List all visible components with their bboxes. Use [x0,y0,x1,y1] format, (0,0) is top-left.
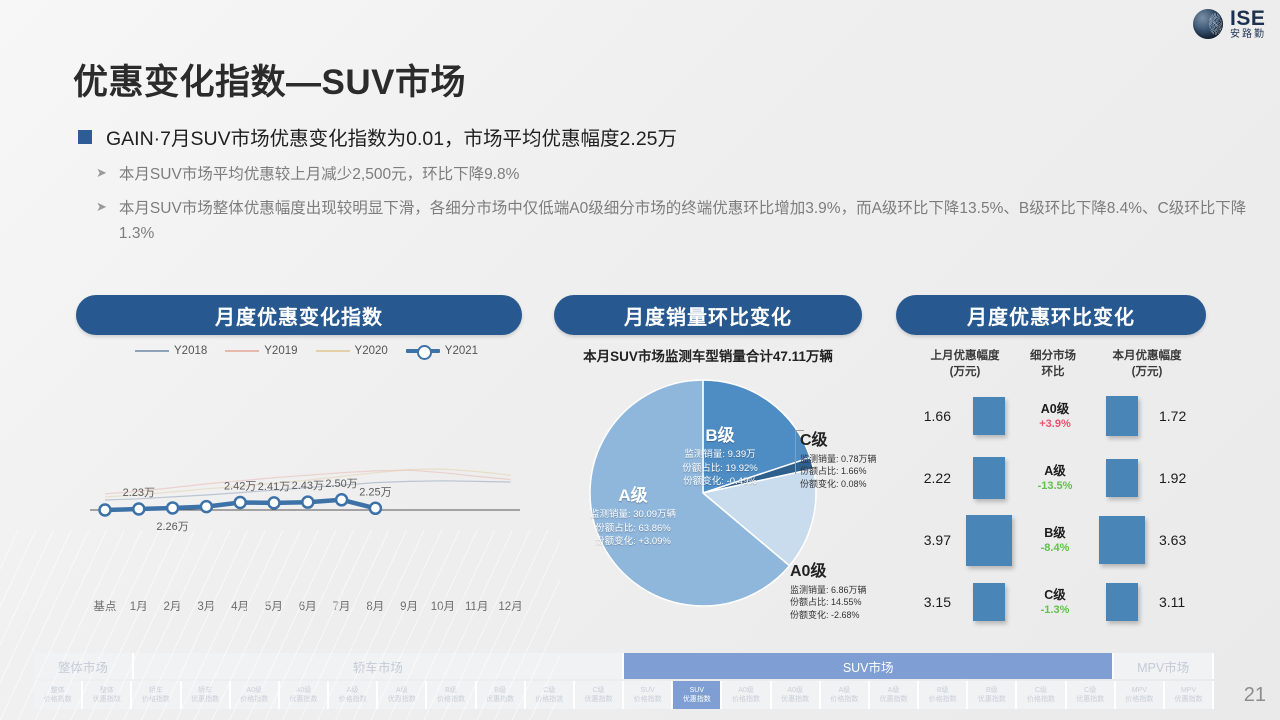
nav-item-line1: C级 [543,686,555,695]
x-tick-label: 4月 [223,598,257,614]
bar-segment-cell: A级-13.5% [1017,464,1093,493]
panel-title-line-chart: 月度优惠变化指数 [76,295,522,335]
nav-group-轿车市场[interactable]: 轿车市场 [134,653,624,679]
bar-prev-value: 2.22 [900,470,960,486]
nav-item-line2: 价格指数 [1027,695,1055,704]
nav-item-line1: A0级 [738,686,754,695]
bar-change-pct: -8.4% [1017,541,1093,555]
nav-item-line2: 优惠指数 [880,695,908,704]
nav-item-line1: A级 [396,686,408,695]
bar-curr [1106,459,1138,497]
legend-line-icon [225,350,259,352]
bar-segment-cell: A0级+3.9% [1017,402,1093,431]
line-data-point [133,503,144,514]
nav-item-A级-优惠指数[interactable]: A级优惠指数 [378,681,427,709]
pie-label-b: B级 监测销量: 9.39万 份额占比: 19.92% 份额变化: -0.49% [660,424,780,489]
line-data-label: 2.42万 [224,481,256,493]
nav-item-B级-价格指数[interactable]: B级价格指数 [919,681,968,709]
nav-item-A0级-优惠指数[interactable]: A0级优惠指数 [280,681,329,709]
legend-label: Y2021 [445,345,478,357]
nav-item-MPV-价格指数[interactable]: MPV价格指数 [1116,681,1165,709]
pie-label-a-share: 份额占比: 63.86% [578,522,688,535]
nav-item-line2: 价格指数 [142,695,170,704]
nav-item-line2: 优惠指数 [781,695,809,704]
x-tick-label: 9月 [392,598,426,614]
bar-col-header-segment: 细分市场 环比 [1004,348,1102,380]
nav-item-line2: 优惠指数 [1175,695,1203,704]
nav-item-C级-优惠指数[interactable]: C级优惠指数 [575,681,624,709]
pie-label-a-sales: 监测销量: 30.09万辆 [578,508,688,521]
nav-item-整体-价格指数[interactable]: 整体价格指数 [34,681,83,709]
nav-item-line2: 价格指数 [437,695,465,704]
nav-item-line1: A级 [839,686,851,695]
bar-curr-wrap [1093,583,1150,621]
pie-label-a0-share: 份额占比: 14.55% [790,596,915,609]
nav-item-line1: C级 [1035,686,1047,695]
bar-prev-wrap [960,583,1017,621]
bar-curr-value: 3.63 [1150,532,1210,548]
line-data-point [336,494,347,505]
bar-prev-value: 3.15 [900,594,960,610]
pie-label-b-name: B级 [660,424,780,448]
pie-label-a0-sales: 监测销量: 6.86万辆 [790,584,915,597]
nav-item-A0级-价格指数[interactable]: A0级价格指数 [231,681,280,709]
nav-item-line1: SUV [690,686,704,695]
x-tick-label: 2月 [156,598,190,614]
nav-item-line2: 优惠指数 [191,695,219,704]
nav-item-line1: A0级 [246,686,262,695]
page-number: 21 [1244,684,1266,707]
nav-item-line1: C级 [1084,686,1096,695]
main-bullet-text: GAIN·7月SUV市场优惠变化指数为0.01，市场平均优惠幅度2.25万 [106,122,677,151]
legend-item-Y2021: Y2021 [406,345,478,357]
pie-label-a-change: 份额变化: +3.09% [578,535,688,548]
bar-col-header-curr-l1: 本月优惠幅度 [1092,348,1202,364]
nav-item-line2: 价格指数 [240,695,268,704]
legend-label: Y2020 [355,345,388,357]
sub-bullet-1: ➤ 本月SUV市场平均优惠较上月减少2,500元，环比下降9.8% [96,162,519,187]
line-chart-svg: 2.23万2.26万2.42万2.41万2.43万2.50万2.25万 [80,400,530,620]
nav-item-line1: SUV [640,686,654,695]
bar-change-pct: -1.3% [1017,603,1093,617]
nav-item-line2: 价格指数 [929,695,957,704]
logo-name: ISE [1230,8,1266,29]
x-tick-label: 11月 [460,598,494,614]
bar-prev-value: 3.97 [900,532,960,548]
nav-item-line2: 价格指数 [44,695,72,704]
x-tick-label: 3月 [189,598,223,614]
bar-compare-row: 3.97B级-8.4%3.63 [900,508,1210,572]
page-title: 优惠变化指数—SUV市场 [73,54,466,105]
nav-item-line1: B级 [445,686,457,695]
line-data-point [235,497,246,508]
sub-bullet-1-text: 本月SUV市场平均优惠较上月减少2,500元，环比下降9.8% [119,162,520,187]
legend-item-Y2019: Y2019 [225,345,297,357]
nav-item-line1: A0级 [296,686,312,695]
line-data-label: 2.26万 [156,521,188,533]
bar-curr-value: 1.92 [1150,470,1210,486]
bar-prev [973,457,1005,499]
line-data-point [302,497,313,508]
nav-item-line1: MPV [1181,686,1196,695]
bar-segment-cell: B级-8.4% [1017,526,1093,555]
nav-item-line1: B级 [937,686,949,695]
bar-curr [1099,516,1145,564]
nav-item-line1: A级 [888,686,900,695]
bar-prev-wrap [960,397,1017,435]
nav-item-B级-价格指数[interactable]: B级价格指数 [427,681,476,709]
bar-prev [973,583,1005,621]
nav-item-line2: 价格指数 [535,695,563,704]
line-chart-x-axis: 基点1月2月3月4月5月6月7月8月9月10月11月12月 [88,598,528,614]
nav-item-line2: 优惠指数 [289,695,317,704]
line-data-label: 2.25万 [359,486,391,498]
pie-label-b-change: 份额变化: -0.49% [660,475,780,488]
x-tick-label: 1月 [122,598,156,614]
bar-prev-wrap [960,515,1017,566]
nav-item-SUV-价格指数[interactable]: SUV价格指数 [624,681,673,709]
nav-item-MPV-优惠指数[interactable]: MPV优惠指数 [1165,681,1214,709]
line-chart: 2.23万2.26万2.42万2.41万2.43万2.50万2.25万 [80,400,530,620]
bar-segment-label: A级 [1017,464,1093,479]
bar-compare-row: 3.15C级-1.3%3.11 [900,570,1210,634]
nav-item-line2: 优惠指数 [683,695,711,704]
pie-label-a0-name: A0级 [790,561,915,584]
bar-curr-wrap [1093,459,1150,497]
legend-marker-icon [406,349,440,353]
chevron-right-icon: ➤ [96,196,107,218]
bar-curr-value: 3.11 [1150,594,1210,610]
legend-line-icon [135,350,169,352]
legend-label: Y2019 [264,345,297,357]
nav-item-A级-价格指数[interactable]: A级价格指数 [821,681,870,709]
nav-item-line1: 轿车 [149,686,163,695]
nav-item-A0级-价格指数[interactable]: A0级价格指数 [722,681,771,709]
nav-group-整体市场[interactable]: 整体市场 [34,653,134,679]
x-tick-label: 12月 [494,598,528,614]
slide: ISE 安路勤 优惠变化指数—SUV市场 GAIN·7月SUV市场优惠变化指数为… [0,0,1280,720]
nav-item-A级-价格指数[interactable]: A级价格指数 [329,681,378,709]
nav-item-轿车-优惠指数[interactable]: 轿车优惠指数 [182,681,231,709]
bar-change-pct: -13.5% [1017,479,1093,493]
x-tick-label: 7月 [325,598,359,614]
pie-label-a0: A0级 监测销量: 6.86万辆 份额占比: 14.55% 份额变化: -2.6… [790,561,915,622]
bar-curr-wrap [1093,516,1150,564]
bar-change-pct: +3.9% [1017,417,1093,431]
nav-item-line2: 价格指数 [830,695,858,704]
pie-label-b-sales: 监测销量: 9.39万 [660,448,780,461]
bar-curr-value: 1.72 [1150,408,1210,424]
ise-logo: ISE 安路勤 [1193,8,1266,40]
pie-label-b-share: 份额占比: 19.92% [660,462,780,475]
nav-item-line2: 优惠指数 [388,695,416,704]
nav-item-整体-优惠指数[interactable]: 整体优惠指数 [83,681,132,709]
sub-bullet-2-text: 本月SUV市场整体优惠幅度出现较明显下滑，各细分市场中仅低端A0级细分市场的终端… [119,196,1264,246]
nav-item-line1: B级 [494,686,506,695]
legend-item-Y2018: Y2018 [135,345,207,357]
pie-subtitle: 本月SUV市场监测车型销量合计47.11万辆 [554,345,862,365]
bar-compare-row: 1.66A0级+3.9%1.72 [900,384,1210,448]
nav-item-B级-优惠指数[interactable]: B级优惠指数 [968,681,1017,709]
bar-curr [1106,396,1138,436]
nav-group-SUV市场[interactable]: SUV市场 [624,653,1114,679]
legend-item-Y2020: Y2020 [316,345,388,357]
nav-item-line1: A0级 [787,686,803,695]
legend-label: Y2018 [174,345,207,357]
nav-item-C级-价格指数[interactable]: C级价格指数 [1017,681,1066,709]
nav-item-line1: 轿车 [198,686,212,695]
line-data-point [269,497,280,508]
nav-item-SUV-优惠指数[interactable]: SUV优惠指数 [673,681,722,709]
bar-col-header-curr: 本月优惠幅度 (万元) [1092,348,1202,380]
line-data-label: 2.23万 [123,487,155,499]
main-bullet: GAIN·7月SUV市场优惠变化指数为0.01，市场平均优惠幅度2.25万 [78,122,677,151]
nav-item-line1: 整体 [100,686,114,695]
nav-item-C级-优惠指数[interactable]: C级优惠指数 [1067,681,1116,709]
nav-item-line2: 优惠指数 [1076,695,1104,704]
nav-item-轿车-价格指数[interactable]: 轿车价格指数 [132,681,181,709]
nav-item-line1: A级 [347,686,359,695]
x-tick-label: 基点 [88,598,122,614]
nav-item-line1: B级 [986,686,998,695]
nav-group-row: 整体市场轿车市场SUV市场MPV市场 [34,653,1214,679]
nav-item-A0级-优惠指数[interactable]: A0级优惠指数 [772,681,821,709]
line-data-point [370,503,381,514]
pie-label-a: A级 监测销量: 30.09万辆 份额占比: 63.86% 份额变化: +3.0… [578,484,688,549]
bar-segment-label: A0级 [1017,402,1093,417]
x-tick-label: 10月 [426,598,460,614]
pie-leader-line-c [795,430,796,474]
pie-label-a0-change: 份额变化: -2.68% [790,609,915,622]
bar-col-header-segment-l1: 细分市场 [1004,348,1102,364]
bar-prev [973,397,1005,435]
nav-item-line1: C级 [592,686,604,695]
nav-item-line2: 优惠指数 [486,695,514,704]
line-data-point [201,501,212,512]
line-chart-legend: Y2018Y2019Y2020Y2021 [135,345,492,357]
chevron-right-icon: ➤ [96,162,107,184]
nav-item-line2: 价格指数 [339,695,367,704]
bar-col-header-curr-l2: (万元) [1092,364,1202,380]
panel-title-bar-chart: 月度优惠环比变化 [896,295,1206,335]
nav-item-line2: 优惠指数 [978,695,1006,704]
nav-item-line2: 优惠指数 [584,695,612,704]
bar-compare-row: 2.22A级-13.5%1.92 [900,446,1210,510]
x-tick-label: 6月 [291,598,325,614]
bar-curr-wrap [1093,396,1150,436]
globe-icon [1193,9,1223,39]
bar-curr [1106,583,1138,621]
nav-item-line2: 价格指数 [1125,695,1153,704]
logo-text: ISE 安路勤 [1230,8,1266,40]
bar-col-header-segment-l2: 环比 [1004,364,1102,380]
line-data-point [100,505,111,516]
bottom-nav: 整体市场轿车市场SUV市场MPV市场 整体价格指数整体优惠指数轿车价格指数轿车优… [34,653,1214,707]
bar-segment-label: B级 [1017,526,1093,541]
nav-item-C级-价格指数[interactable]: C级价格指数 [526,681,575,709]
bar-prev-value: 1.66 [900,408,960,424]
line-data-label: 2.41万 [258,481,290,493]
sub-bullet-2: ➤ 本月SUV市场整体优惠幅度出现较明显下滑，各细分市场中仅低端A0级细分市场的… [96,196,1264,246]
line-data-label: 2.43万 [292,480,324,492]
nav-group-MPV市场[interactable]: MPV市场 [1114,653,1214,679]
nav-item-line1: 整体 [51,686,65,695]
nav-item-line2: 价格指数 [732,695,760,704]
bar-segment-label: C级 [1017,588,1093,603]
nav-item-line1: MPV [1132,686,1147,695]
nav-item-row: 整体价格指数整体优惠指数轿车价格指数轿车优惠指数A0级价格指数A0级优惠指数A级… [34,681,1214,709]
legend-line-icon [316,350,350,352]
nav-item-A级-优惠指数[interactable]: A级优惠指数 [870,681,919,709]
bar-prev [966,515,1012,566]
nav-item-line2: 价格指数 [634,695,662,704]
panel-title-pie-chart: 月度销量环比变化 [554,295,862,335]
bar-prev-wrap [960,457,1017,499]
line-data-label: 2.50万 [325,478,357,490]
line-data-point [167,502,178,513]
x-tick-label: 5月 [257,598,291,614]
bar-segment-cell: C级-1.3% [1017,588,1093,617]
nav-item-B级-优惠指数[interactable]: B级优惠指数 [477,681,526,709]
nav-item-line2: 优惠指数 [93,695,121,704]
x-tick-label: 8月 [358,598,392,614]
logo-subtitle: 安路勤 [1230,30,1266,40]
bullet-square-icon [78,130,92,144]
